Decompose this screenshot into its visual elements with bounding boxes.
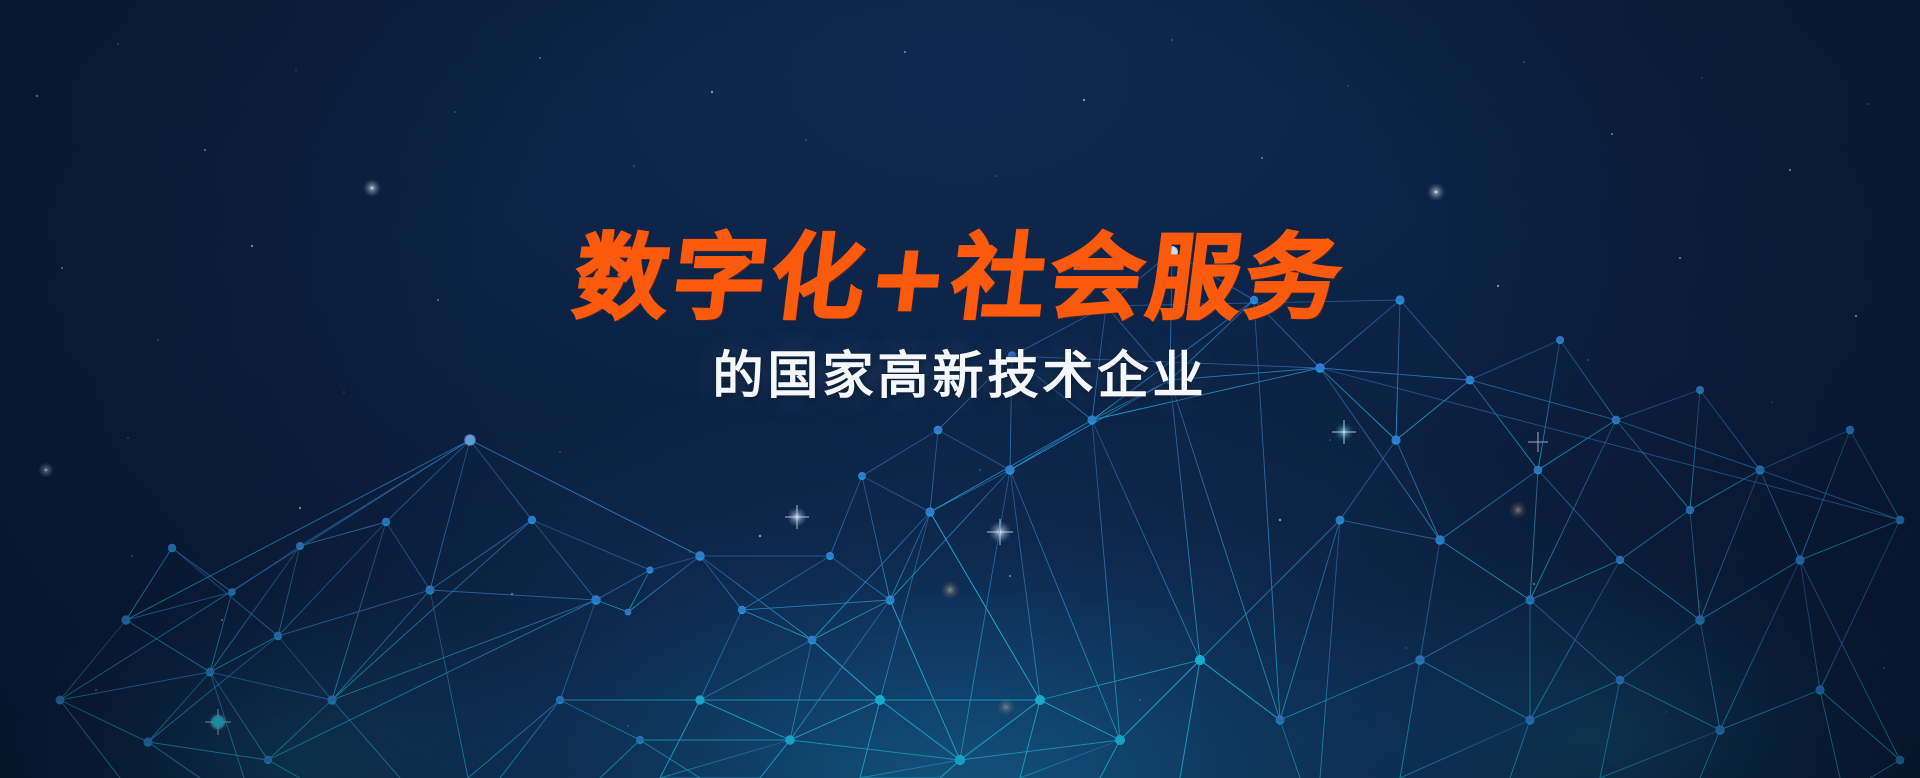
banner-stage: 数字化+社会服务 的国家高新技术企业 bbox=[0, 0, 1920, 778]
page-subtitle: 的国家高新技术企业 bbox=[0, 351, 1920, 402]
banner-text-block: 数字化+社会服务 的国家高新技术企业 bbox=[0, 0, 1920, 402]
page-title: 数字化+社会服务 bbox=[0, 232, 1920, 325]
